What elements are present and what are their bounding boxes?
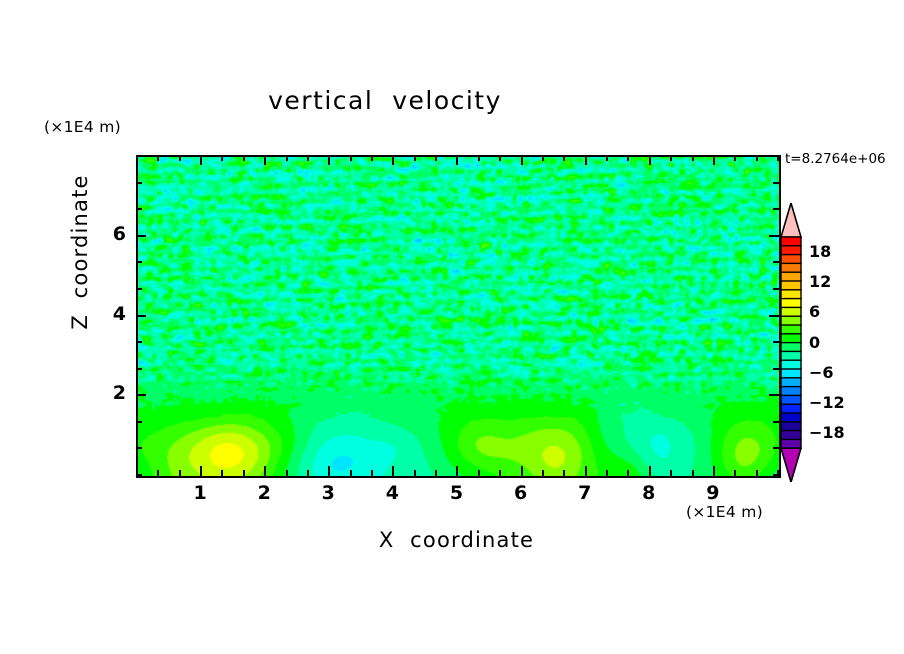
x-axis-tick: [264, 466, 266, 476]
x-axis-tick: [756, 155, 758, 161]
x-axis-tick: [350, 470, 352, 476]
x-axis-tick: [221, 155, 223, 161]
x-tick-label: 3: [313, 482, 343, 504]
x-tick-label: 6: [506, 482, 536, 504]
x-axis-tick: [692, 155, 694, 161]
y-axis-tick: [773, 368, 779, 370]
y-axis-tick: [773, 474, 779, 476]
y-axis-tick: [773, 182, 779, 184]
x-axis-tick: [563, 470, 565, 476]
x-axis-tick: [157, 155, 159, 161]
colorbar-band: [781, 360, 801, 369]
x-axis-tick: [649, 466, 651, 476]
x-axis-tick: [243, 470, 245, 476]
y-axis-tick: [136, 474, 142, 476]
x-axis-tick: [328, 155, 330, 165]
colorbar-band: [781, 299, 801, 308]
y-axis-tick: [769, 315, 779, 317]
x-axis-tick: [414, 470, 416, 476]
y-axis-tick: [136, 447, 142, 449]
colorbar-swatches: [780, 203, 802, 482]
y-axis-tick: [136, 421, 142, 423]
colorbar-tick-label: 0: [809, 333, 820, 352]
colorbar-tick-label: −12: [809, 393, 845, 412]
colorbar-band: [781, 439, 801, 448]
colorbar-tick-label: 6: [809, 302, 820, 321]
x-axis-tick: [692, 470, 694, 476]
x-axis-tick: [670, 155, 672, 161]
x-axis-tick: [499, 470, 501, 476]
x-axis-tick: [392, 155, 394, 165]
x-tick-label: 2: [249, 482, 279, 504]
colorbar-band: [781, 378, 801, 387]
x-axis-tick: [521, 155, 523, 165]
x-tick-label: 5: [442, 482, 472, 504]
y-axis-tick: [773, 447, 779, 449]
page-title: vertical velocity: [0, 86, 770, 115]
y-tick-label: 2: [96, 382, 126, 404]
y-axis-tick: [773, 155, 779, 157]
colorbar-band: [781, 343, 801, 352]
colorbar-band: [781, 395, 801, 404]
y-axis-title: Z coordinate: [68, 152, 92, 352]
y-axis-tick: [773, 261, 779, 263]
y-axis-unit-label: (×1E4 m): [44, 118, 121, 136]
x-axis-tick: [670, 470, 672, 476]
x-axis-tick: [307, 470, 309, 476]
colorbar-band: [781, 404, 801, 413]
x-axis-tick: [221, 470, 223, 476]
time-stamp-annotation: t=8.2764e+06: [785, 151, 886, 167]
x-axis-tick: [456, 466, 458, 476]
y-axis-tick: [773, 288, 779, 290]
x-axis-tick: [307, 155, 309, 161]
y-axis-tick: [136, 315, 146, 317]
y-axis-tick: [769, 235, 779, 237]
y-tick-label: 4: [96, 303, 126, 325]
colorbar-band: [781, 263, 801, 272]
x-axis-tick: [627, 470, 629, 476]
y-axis-tick: [136, 208, 142, 210]
x-axis-tick: [200, 155, 202, 165]
colorbar-under-arrow: [781, 448, 801, 482]
x-axis-tick: [585, 466, 587, 476]
x-axis-unit-label: (×1E4 m): [686, 503, 763, 521]
colorbar-band: [781, 422, 801, 431]
y-axis-tick: [136, 155, 142, 157]
colorbar-tick-label: 12: [809, 272, 831, 291]
colorbar-over-arrow: [781, 203, 801, 237]
colorbar-band: [781, 387, 801, 396]
x-tick-label: 8: [634, 482, 664, 504]
x-axis-tick: [649, 155, 651, 165]
colorbar-tick-label: −6: [809, 363, 834, 382]
x-tick-label: 9: [698, 482, 728, 504]
x-axis-title: X coordinate: [136, 528, 777, 552]
x-axis-tick: [606, 155, 608, 161]
colorbar-band: [781, 307, 801, 316]
x-axis-tick: [200, 466, 202, 476]
x-axis-tick: [756, 470, 758, 476]
y-axis-tick: [773, 208, 779, 210]
x-axis-tick: [435, 470, 437, 476]
y-axis-tick: [136, 261, 142, 263]
x-axis-tick: [734, 155, 736, 161]
x-axis-tick: [392, 466, 394, 476]
colorbar-band: [781, 255, 801, 264]
x-axis-tick: [563, 155, 565, 161]
x-axis-tick: [371, 155, 373, 161]
y-axis-tick: [769, 394, 779, 396]
x-axis-tick: [350, 155, 352, 161]
x-axis-tick: [179, 155, 181, 161]
x-axis-tick: [456, 155, 458, 165]
x-axis-tick: [542, 155, 544, 161]
x-axis-tick: [585, 155, 587, 165]
x-axis-tick: [713, 155, 715, 165]
y-axis-tick: [136, 235, 146, 237]
y-tick-label: 6: [96, 223, 126, 245]
colorbar-band: [781, 325, 801, 334]
colorbar-band: [781, 334, 801, 343]
x-axis-tick: [499, 155, 501, 161]
x-axis-tick: [542, 470, 544, 476]
colorbar-band: [781, 237, 801, 246]
x-axis-tick: [243, 155, 245, 161]
x-axis-tick: [713, 466, 715, 476]
contour-plot-area[interactable]: [136, 155, 781, 478]
x-axis-tick: [478, 155, 480, 161]
x-axis-tick: [179, 470, 181, 476]
y-axis-tick: [136, 182, 142, 184]
x-axis-tick: [435, 155, 437, 161]
colorbar-band: [781, 413, 801, 422]
x-axis-tick: [264, 155, 266, 165]
colorbar-tick-label: 18: [809, 242, 831, 261]
y-axis-tick: [136, 368, 142, 370]
colorbar-band: [781, 246, 801, 255]
x-tick-label: 4: [377, 482, 407, 504]
x-axis-tick: [521, 466, 523, 476]
x-axis-tick: [606, 470, 608, 476]
colorbar-band: [781, 272, 801, 281]
x-axis-tick: [414, 155, 416, 161]
x-axis-tick: [478, 470, 480, 476]
x-axis-tick: [734, 470, 736, 476]
y-axis-tick: [773, 341, 779, 343]
colorbar-band: [781, 290, 801, 299]
y-axis-tick: [136, 394, 146, 396]
x-axis-tick: [286, 470, 288, 476]
colorbar-band: [781, 351, 801, 360]
x-axis-tick: [627, 155, 629, 161]
y-axis-tick: [136, 341, 142, 343]
x-axis-tick: [157, 470, 159, 476]
y-axis-tick: [136, 288, 142, 290]
colorbar-band: [781, 316, 801, 325]
colorbar-tick-label: −18: [809, 423, 845, 442]
x-axis-tick: [328, 466, 330, 476]
colorbar-band: [781, 431, 801, 440]
y-axis-tick: [773, 421, 779, 423]
x-axis-tick: [371, 470, 373, 476]
x-axis-tick: [286, 155, 288, 161]
x-tick-label: 1: [185, 482, 215, 504]
colorbar[interactable]: [780, 203, 802, 482]
colorbar-band: [781, 281, 801, 290]
colorbar-band: [781, 369, 801, 378]
x-tick-label: 7: [570, 482, 600, 504]
contour-field-canvas: [138, 157, 779, 476]
